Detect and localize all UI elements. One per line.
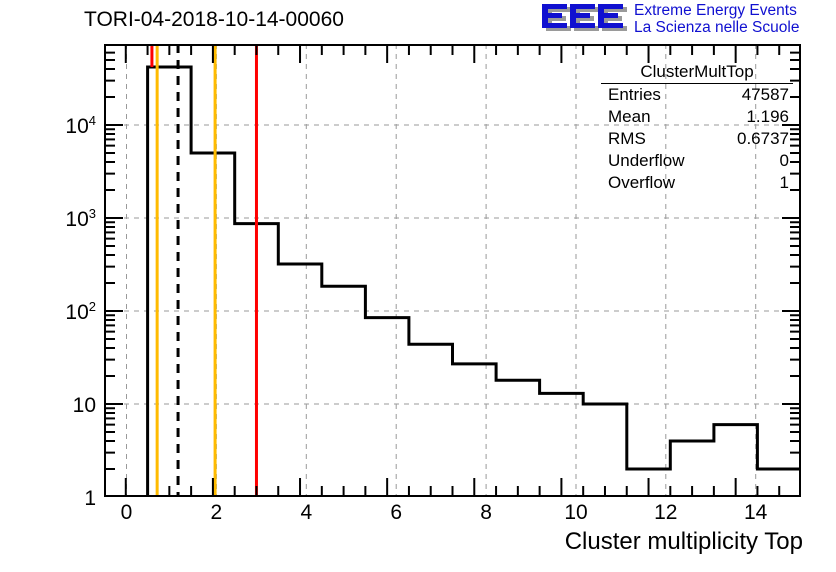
y-tick-label-100: 102 — [26, 299, 96, 325]
y-tick-label-10: 10 — [26, 394, 96, 418]
stats-row-overflow: Overflow 1 — [601, 173, 793, 194]
x-tick-label-8: 8 — [466, 501, 506, 525]
page-title: TORI-04-2018-10-14-00060 — [84, 8, 344, 32]
x-tick-label-2: 2 — [196, 501, 236, 525]
y-tick-label-1000: 103 — [26, 206, 96, 232]
x-tick-label-4: 4 — [286, 501, 326, 525]
stats-box: ClusterMultTop Entries 47587 Mean 1.196 … — [601, 62, 793, 194]
x-tick-label-12: 12 — [646, 501, 686, 525]
stats-row-mean: Mean 1.196 — [601, 107, 793, 128]
stats-key-overflow: Overflow — [608, 173, 675, 193]
eee-logo: Extreme Energy Events La Scienza nelle S… — [540, 2, 832, 38]
stats-row-rms: RMS 0.6737 — [601, 129, 793, 150]
x-tick-label-10: 10 — [556, 501, 596, 525]
stats-value-mean: 1.196 — [746, 107, 789, 127]
eee-logo-line2: La Scienza nelle Scuole — [634, 19, 799, 36]
stats-box-title: ClusterMultTop — [601, 62, 793, 84]
x-axis-title: Cluster multiplicity Top — [565, 528, 803, 556]
eee-logo-mark-icon — [540, 3, 630, 35]
x-tick-label-6: 6 — [376, 501, 416, 525]
x-tick-label-14: 14 — [736, 501, 776, 525]
x-tick-label-0: 0 — [107, 501, 147, 525]
y-tick-label-10000: 104 — [26, 113, 96, 139]
stats-row-entries: Entries 47587 — [601, 85, 793, 106]
stats-row-underflow: Underflow 0 — [601, 151, 793, 172]
y-tick-label-1: 1 — [26, 487, 96, 511]
root-canvas: TORI-04-2018-10-14-00060 — [0, 0, 836, 572]
eee-logo-line1: Extreme Energy Events — [634, 2, 799, 19]
eee-logo-text: Extreme Energy Events La Scienza nelle S… — [634, 2, 799, 36]
stats-value-rms: 0.6737 — [737, 129, 789, 149]
stats-value-entries: 47587 — [742, 85, 789, 105]
stats-key-underflow: Underflow — [608, 151, 685, 171]
stats-value-underflow: 0 — [780, 151, 789, 171]
stats-key-entries: Entries — [608, 85, 661, 105]
stats-key-rms: RMS — [608, 129, 646, 149]
stats-value-overflow: 1 — [780, 173, 789, 193]
stats-key-mean: Mean — [608, 107, 651, 127]
